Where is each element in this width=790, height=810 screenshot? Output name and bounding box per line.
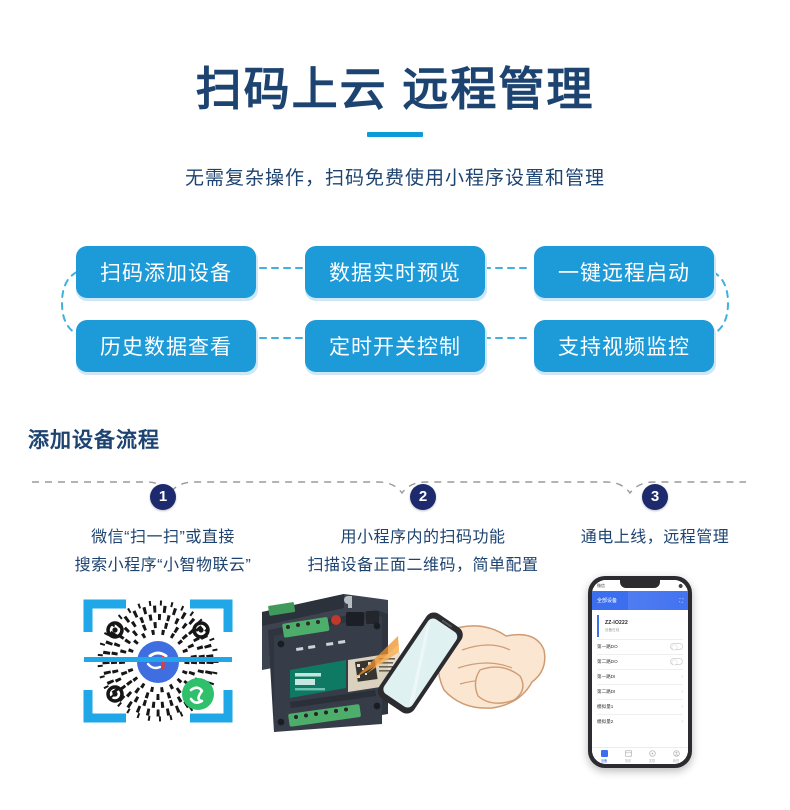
device-scan-illustration [248,574,548,759]
phone-app-mockup: 微信 ⬤ 全部设备 ⛶ ZZ-IO222 设备在线 第一路DO [588,576,692,771]
grid-icon [601,750,608,757]
process-section: 添加设备流程 1 微信“扫一扫”或直接 搜索小程序“小智物联云” 2 用小程序内… [0,424,790,560]
feature-button-timer-switch[interactable]: 定时开关控制 [305,320,485,372]
hero-section: 扫码上云 远程管理 无需复杂操作，扫码免费使用小程序设置和管理 [0,0,790,190]
controller-board-front [268,610,400,732]
page-title: 扫码上云 远程管理 [0,62,790,116]
step-text-2-line-1: 用小程序内的扫码功能 [298,524,548,552]
compass-icon [649,750,656,757]
row-toggle[interactable] [670,643,683,650]
list-item[interactable]: 第二路DI › [597,684,683,699]
illustration-row: 微信 ⬤ 全部设备 ⛶ ZZ-IO222 设备在线 第一路DO [0,574,790,774]
list-item[interactable]: 模拟量1 › [597,699,683,714]
feature-grid: 扫码添加设备 数据实时预览 一键远程启动 历史数据查看 定时开关控制 支持视频监… [40,228,750,378]
row-toggle[interactable] [670,658,683,665]
list-item[interactable]: 第一路DO [597,639,683,654]
row-label: 第一路DO [597,644,618,650]
panel-icon [625,750,632,757]
list-item[interactable]: 第二路DO [597,654,683,669]
list-item[interactable]: 第一路DI › [597,669,683,684]
title-accent-rule [367,132,423,137]
row-label: 第二路DI [597,689,615,695]
process-steps: 1 微信“扫一扫”或直接 搜索小程序“小智物联云” 2 用小程序内的扫码功能 扫… [28,460,762,560]
process-step-2: 2 用小程序内的扫码功能 扫描设备正面二维码，简单配置 [298,484,548,580]
hand-holding-phone [374,609,544,717]
phone-notch [620,580,660,588]
tab-label: 我的 [673,758,679,763]
tab-profile[interactable]: 我的 [664,748,688,764]
row-label: 第一路DI [597,674,615,680]
app-header-bar: 全部设备 ⛶ [592,591,688,610]
row-label: 第二路DO [597,659,618,665]
feature-button-remote-start[interactable]: 一键远程启动 [534,246,714,298]
chevron-right-icon: › [681,704,683,710]
phone-screen: 微信 ⬤ 全部设备 ⛶ ZZ-IO222 设备在线 第一路DO [592,580,688,764]
app-header-title: 全部设备 [597,597,617,604]
feature-row-bottom: 历史数据查看 定时开关控制 支持视频监控 [76,320,714,372]
device-channel-list: 第一路DO 第二路DO 第一路DI › 第二路DI › [592,639,688,748]
step-text-3-line-1: 通电上线，远程管理 [548,524,762,552]
device-status: 设备在线 [605,628,677,633]
step-badge-2: 2 [410,484,436,510]
process-step-3: 3 通电上线，远程管理 [548,484,762,580]
page-subtitle: 无需复杂操作，扫码免费使用小程序设置和管理 [0,163,790,190]
tab-label: 场景 [625,758,631,763]
feature-row-top: 扫码添加设备 数据实时预览 一键远程启动 [76,246,714,298]
qr-scanner-illustration [78,586,238,736]
list-item[interactable]: 模拟量2 › [597,714,683,729]
step-text-1-line-1: 微信“扫一扫”或直接 [28,524,298,552]
step-badge-1: 1 [150,484,176,510]
feature-button-video-monitor[interactable]: 支持视频监控 [534,320,714,372]
device-name: ZZ-IO222 [605,620,677,626]
step-text-1-line-2: 搜索小程序“小智物联云” [28,552,298,580]
tab-scenes[interactable]: 场景 [616,748,640,764]
tab-label: 设备 [601,758,607,763]
feature-button-realtime-preview[interactable]: 数据实时预览 [305,246,485,298]
phone-tab-bar: 设备 场景 发现 [592,747,688,764]
tab-devices[interactable]: 设备 [592,748,616,764]
step-badge-3: 3 [642,484,668,510]
feature-button-history-data[interactable]: 历史数据查看 [76,320,256,372]
phone-status-bar: 微信 ⬤ [592,580,688,591]
row-label: 模拟量1 [597,704,613,710]
status-bar-carrier: 微信 [597,583,605,589]
wechat-miniprogram-badge [182,678,214,710]
tab-discover[interactable]: 发现 [640,748,664,764]
header-gradient [628,591,688,610]
scan-line [84,657,232,662]
device-card[interactable]: ZZ-IO222 设备在线 [597,615,683,637]
chevron-right-icon: › [681,719,683,725]
chevron-right-icon: › [681,674,683,680]
step-text-2-line-2: 扫描设备正面二维码，简单配置 [298,552,548,580]
process-title: 添加设备流程 [28,424,762,454]
user-icon [673,750,680,757]
process-step-1: 1 微信“扫一扫”或直接 搜索小程序“小智物联云” [28,484,298,580]
phone-body: 微信 ⬤ 全部设备 ⛶ ZZ-IO222 设备在线 第一路DO [588,576,692,768]
chevron-right-icon: › [681,689,683,695]
feature-button-scan-add-device[interactable]: 扫码添加设备 [76,246,256,298]
tab-label: 发现 [649,758,655,763]
row-label: 模拟量2 [597,719,613,725]
status-bar-battery-icon: ⬤ [679,583,683,588]
